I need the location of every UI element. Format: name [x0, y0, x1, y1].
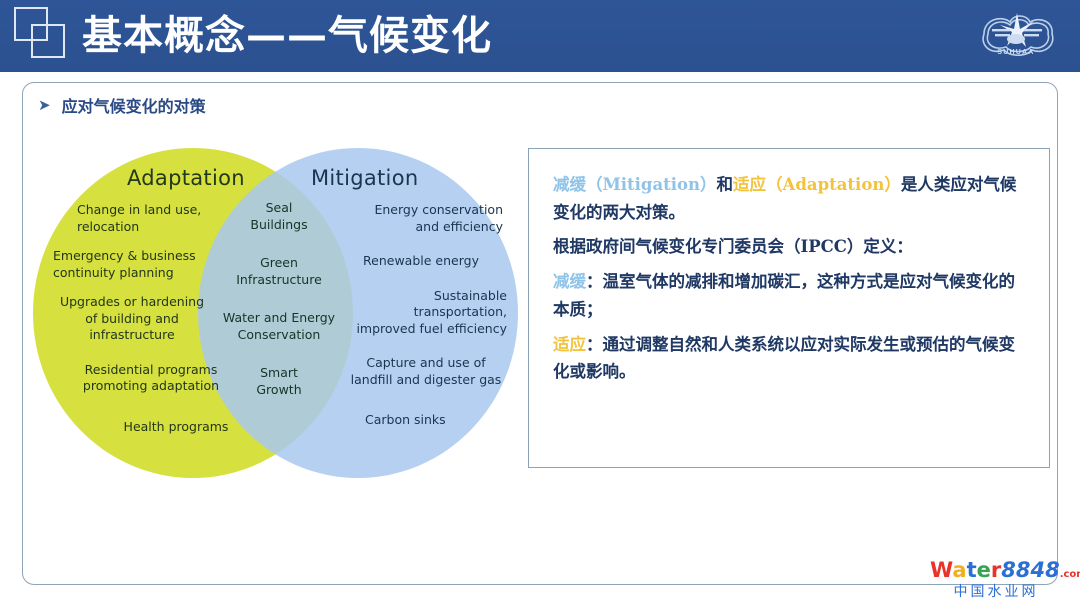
logo-square-front	[31, 24, 65, 58]
watermark-chinese-name: 中国水业网	[930, 585, 1062, 599]
keyword-mitigation-cn: 减缓	[553, 272, 586, 291]
venn-item: Change in land use,relocation	[43, 202, 243, 235]
textbox-line-1: 减缓（Mitigation）和适应（Adaptation）是人类应对气候变化的两…	[553, 171, 1029, 226]
keyword-adaptation-cn: 适应	[733, 175, 766, 194]
site-watermark: Water8848.com 中国水业网	[930, 560, 1062, 599]
textbox-line-4: 适应：通过调整自然和人类系统以应对实际发生或预估的气候变化或影响。	[553, 331, 1029, 386]
venn-item: Energy conservationand efficiency	[333, 202, 513, 235]
ipcc-prefix: 根据政府间气候变化专门委员会（	[553, 237, 801, 256]
venn-diagram: Adaptation Mitigation Change in land use…	[33, 148, 518, 478]
venn-item: Emergency & businesscontinuity planning	[43, 248, 243, 281]
explanation-textbox: 减缓（Mitigation）和适应（Adaptation）是人类应对气候变化的两…	[528, 148, 1050, 468]
wm-tld: .com	[1060, 569, 1080, 580]
venn-item: GreenInfrastructure	[219, 255, 339, 288]
arrow-bullet-icon: ➤	[38, 98, 51, 113]
venn-item: Water and EnergyConservation	[219, 310, 339, 343]
ipcc-suffix: ）定义：	[847, 237, 913, 256]
venn-item: Renewable energy	[333, 253, 513, 270]
venn-item: Residential programspromoting adaptation	[43, 362, 243, 395]
venn-item: SealBuildings	[219, 200, 339, 233]
watermark-logo-text: Water8848.com	[930, 560, 1062, 581]
venn-item: Capture and use oflandfill and digester …	[333, 355, 513, 388]
wm-letter-w: W	[930, 558, 952, 582]
textbox-line-3: 减缓：温室气体的减排和增加碳汇，这种方式是应对气候变化的本质；	[553, 268, 1029, 323]
venn-items-mitigation: Energy conservationand efficiency Renewa…	[333, 202, 513, 444]
adaptation-definition: ：通过调整自然和人类系统以应对实际发生或预估的气候变化或影响。	[553, 335, 1015, 382]
wm-letter-t: t	[967, 558, 977, 582]
keyword-mitigation-en: （Mitigation）	[586, 175, 717, 194]
mitigation-definition: ：温室气体的减排和增加碳汇，这种方式是应对气候变化的本质；	[553, 272, 1015, 319]
keyword-adaptation-en: （Adaptation）	[766, 175, 901, 194]
wm-number: 8848	[1001, 558, 1059, 582]
textbox-line-2: 根据政府间气候变化专门委员会（IPCC）定义：	[553, 233, 1029, 261]
section-heading-label: 应对气候变化的对策	[62, 93, 206, 117]
wm-letter-e: e	[977, 558, 991, 582]
venn-label-adaptation: Adaptation	[127, 166, 245, 190]
venn-items-adaptation: Change in land use,relocation Emergency …	[43, 202, 243, 448]
conjunction: 和	[717, 175, 734, 194]
venn-item: Carbon sinks	[333, 412, 513, 429]
section-heading: ➤ 应对气候变化的对策	[38, 93, 206, 117]
page-title: 基本概念——气候变化	[82, 4, 492, 68]
keyword-mitigation-cn: 减缓	[553, 175, 586, 194]
venn-item: Upgrades or hardeningof building andinfr…	[43, 294, 243, 344]
wm-letter-a: a	[952, 558, 966, 582]
slide-header: 基本概念——气候变化 SUHUAA	[0, 0, 1080, 72]
venn-item: SmartGrowth	[219, 365, 339, 398]
ipcc-abbr: IPCC	[801, 237, 847, 256]
presentation-slide: 基本概念——气候变化 SUHUAA	[0, 0, 1080, 607]
wm-letter-r: r	[991, 558, 1001, 582]
venn-item: Sustainabletransportation,improved fuel …	[333, 288, 513, 338]
institution-emblem-icon: SUHUAA	[964, 3, 1068, 65]
venn-label-mitigation: Mitigation	[311, 166, 418, 190]
emblem-label: SUHUAA	[964, 49, 1068, 56]
keyword-adaptation-cn: 适应	[553, 335, 586, 354]
venn-item: Health programs	[43, 419, 243, 436]
overlapping-squares-icon	[14, 7, 76, 62]
venn-items-overlap: SealBuildings GreenInfrastructure Water …	[219, 200, 339, 420]
